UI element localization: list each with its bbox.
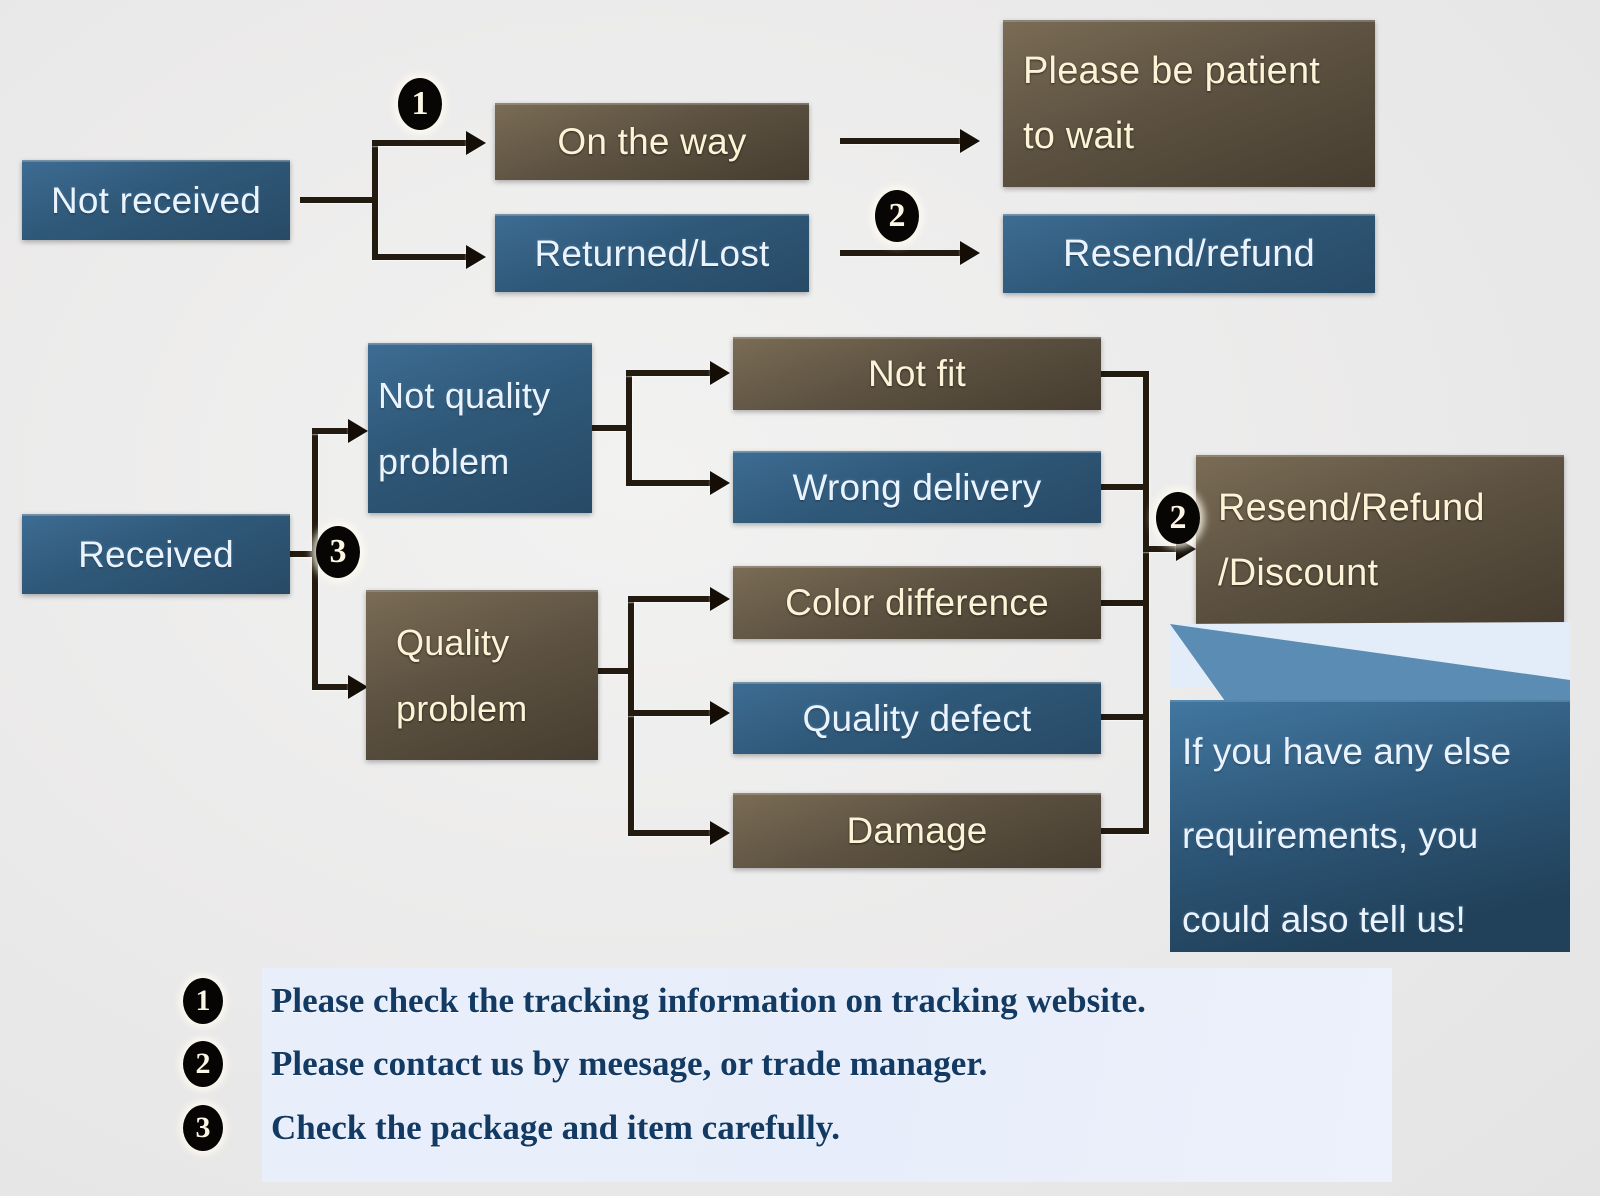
footnote-text-1: Please check the tracking information on…	[271, 981, 1146, 1021]
connector-right-bus	[1143, 371, 1149, 834]
badge-3-received: 3	[316, 526, 360, 578]
node-returned-lost[interactable]: Returned/Lost	[495, 214, 809, 292]
node-quality-problem-line1: Quality	[396, 622, 509, 664]
node-not-fit-label: Not fit	[747, 353, 1087, 395]
node-color-difference-label: Color difference	[747, 582, 1087, 624]
node-resend-refund-discount-line1: Resend/Refund	[1218, 487, 1485, 530]
footnote-badge-2: 2	[183, 1041, 223, 1087]
footnote-text-3: Check the package and item carefully.	[271, 1108, 840, 1148]
footnote-badge-1-numeral: 1	[196, 986, 211, 1016]
node-resend-refund-discount[interactable]: Resend/Refund /Discount	[1196, 455, 1564, 625]
footnote-row-2: 2 Please contact us by meesage, or trade…	[183, 1041, 987, 1087]
node-not-received[interactable]: Not received	[22, 160, 290, 240]
connector-stub-quality-defect	[1101, 714, 1149, 720]
footnote-text-2: Please contact us by meesage, or trade m…	[271, 1044, 987, 1084]
connector-to-color-difference	[628, 596, 716, 602]
connector-returned-to-resend	[840, 250, 965, 256]
node-not-quality-problem[interactable]: Not quality problem	[368, 343, 592, 513]
callout-box: If you have any else requirements, you c…	[1170, 622, 1570, 952]
arrow-on-the-way-to-wait	[960, 129, 980, 153]
node-quality-defect[interactable]: Quality defect	[733, 682, 1101, 754]
node-not-received-label: Not received	[36, 180, 276, 222]
connector-on-the-way-to-wait	[840, 138, 965, 144]
connector-to-returned-lost	[372, 254, 470, 260]
node-please-be-patient[interactable]: Please be patient to wait	[1003, 20, 1375, 187]
node-not-fit[interactable]: Not fit	[733, 337, 1101, 410]
node-quality-problem[interactable]: Quality problem	[366, 590, 598, 760]
arrow-to-not-fit	[710, 361, 730, 385]
node-resend-refund-label: Resend/refund	[1017, 233, 1361, 276]
node-returned-lost-label: Returned/Lost	[509, 233, 795, 275]
callout-line3: could also tell us!	[1182, 878, 1574, 962]
badge-3-received-numeral: 3	[330, 535, 347, 569]
connector-to-on-the-way	[372, 140, 470, 146]
connector-stub-damage	[1101, 828, 1149, 834]
footnote-badge-2-numeral: 2	[196, 1049, 211, 1079]
footnote-badge-3-numeral: 3	[196, 1113, 211, 1143]
badge-2-right: 2	[1156, 492, 1200, 544]
node-not-quality-problem-line2: problem	[378, 441, 509, 483]
node-not-quality-problem-line1: Not quality	[378, 375, 550, 417]
node-received-label: Received	[36, 534, 276, 576]
node-color-difference[interactable]: Color difference	[733, 566, 1101, 639]
node-wrong-delivery-label: Wrong delivery	[747, 467, 1087, 509]
node-on-the-way[interactable]: On the way	[495, 103, 809, 180]
badge-1-top: 1	[398, 78, 442, 130]
connector-to-wrong-delivery	[626, 480, 716, 486]
connector-not-received-split	[372, 140, 378, 260]
arrow-to-on-the-way	[466, 131, 486, 155]
node-resend-refund-discount-line2: /Discount	[1218, 552, 1378, 595]
node-resend-refund[interactable]: Resend/refund	[1003, 214, 1375, 293]
node-please-be-patient-line1: Please be patient	[1023, 50, 1320, 93]
node-received[interactable]: Received	[22, 514, 290, 594]
node-quality-problem-line2: problem	[396, 688, 527, 730]
footnote-badge-1: 1	[183, 978, 223, 1024]
node-on-the-way-label: On the way	[509, 121, 795, 163]
arrow-to-quality-defect	[710, 701, 730, 725]
arrow-to-not-quality	[348, 419, 368, 443]
badge-2-top-numeral: 2	[889, 199, 906, 233]
arrow-to-damage	[710, 821, 730, 845]
connector-to-damage	[628, 830, 716, 836]
footnote-row-1: 1 Please check the tracking information …	[183, 978, 1146, 1024]
diagram-canvas: Not received 1 On the way Returned/Lost …	[0, 0, 1600, 1196]
connector-to-not-fit	[626, 370, 716, 376]
connector-not-received-stem	[300, 197, 378, 203]
footnote-badge-3: 3	[183, 1105, 223, 1151]
connector-nqp-split	[626, 370, 632, 486]
arrow-to-color-difference	[710, 587, 730, 611]
badge-2-right-numeral: 2	[1170, 501, 1187, 535]
node-wrong-delivery[interactable]: Wrong delivery	[733, 451, 1101, 523]
node-damage[interactable]: Damage	[733, 793, 1101, 868]
connector-stub-not-fit	[1101, 371, 1149, 377]
arrow-returned-to-resend	[960, 241, 980, 265]
node-please-be-patient-line2: to wait	[1023, 115, 1134, 158]
arrow-to-returned-lost	[466, 245, 486, 269]
node-damage-label: Damage	[747, 810, 1087, 852]
connector-stub-wrong-delivery	[1101, 484, 1149, 490]
connector-to-quality-defect	[628, 710, 716, 716]
arrow-to-wrong-delivery	[710, 471, 730, 495]
node-quality-defect-label: Quality defect	[747, 698, 1087, 740]
badge-1-top-numeral: 1	[412, 87, 429, 121]
callout-line2: requirements, you	[1182, 794, 1574, 878]
callout-line1: If you have any else	[1182, 710, 1574, 794]
footnote-row-3: 3 Check the package and item carefully.	[183, 1105, 840, 1151]
connector-stub-color-difference	[1101, 600, 1149, 606]
badge-2-top: 2	[875, 190, 919, 242]
arrow-to-quality	[348, 675, 368, 699]
connector-qp-split	[628, 596, 634, 836]
